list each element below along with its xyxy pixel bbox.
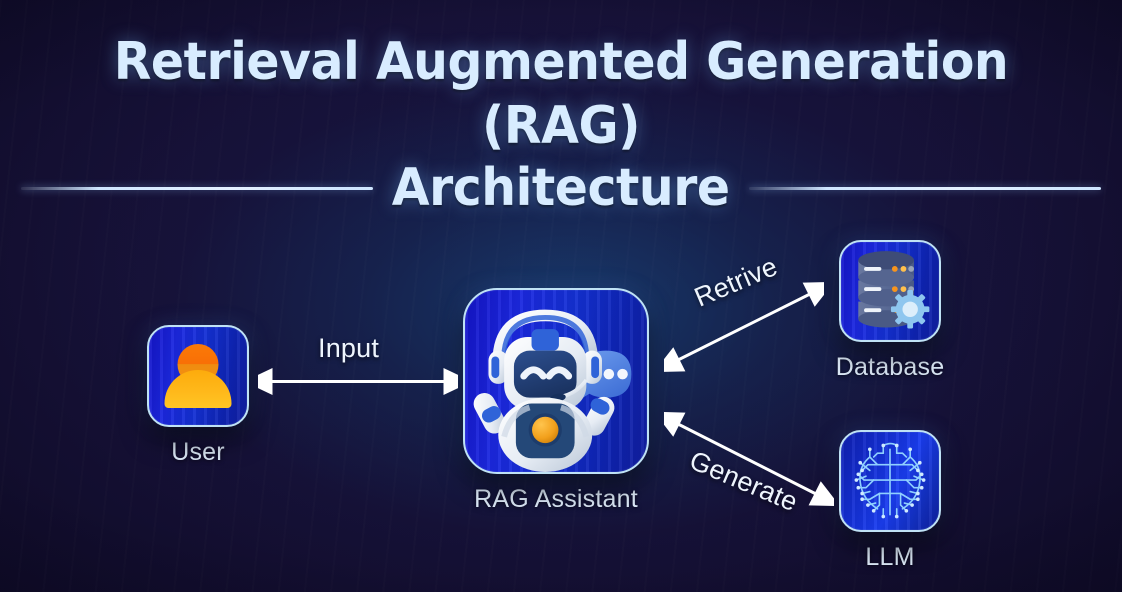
rag-assistant-icon-card[interactable]	[463, 288, 649, 474]
gear-icon	[891, 290, 929, 328]
title-rule-right	[749, 187, 1101, 190]
node-label-user: User	[96, 438, 300, 467]
title-rule-left	[21, 187, 373, 190]
node-label-llm: LLM	[790, 543, 990, 572]
title-line-2: Architecture	[392, 156, 730, 220]
user-icon-card[interactable]	[147, 325, 249, 427]
user-person-icon-body	[165, 370, 232, 408]
db-disc-top	[858, 251, 914, 286]
circuit-brain-icon	[841, 432, 939, 530]
database-icon-card[interactable]	[839, 240, 941, 342]
node-label-rag-assistant: RAG Assistant	[440, 485, 672, 514]
edge-label-input: Input	[318, 333, 379, 364]
node-rag-assistant[interactable]: RAG Assistant	[440, 288, 672, 514]
page-title: Retrieval Augmented Generation (RAG) Arc…	[0, 30, 1122, 220]
database-cylinder-gear-icon	[841, 242, 939, 340]
diagram-canvas: Retrieval Augmented Generation (RAG) Arc…	[0, 0, 1122, 592]
title-line-1: Retrieval Augmented Generation (RAG)	[34, 30, 1089, 158]
llm-icon-card[interactable]	[839, 430, 941, 532]
robot-assistant-icon	[465, 290, 647, 472]
title-line-2-row: Architecture	[0, 156, 1122, 220]
edge-input-arrow	[258, 362, 458, 402]
